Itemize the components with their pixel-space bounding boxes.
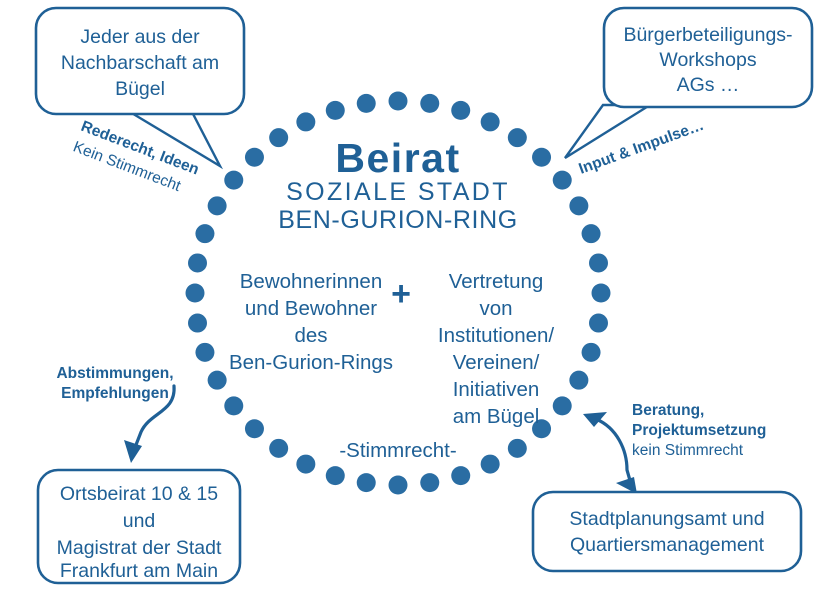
center-right-column: Vertretung von Institutionen/ Vereinen/ … — [438, 270, 555, 428]
callout-top-left-line-1: Jeder aus der — [80, 26, 200, 48]
callout-top-right-line-2: Workshops — [659, 49, 756, 71]
center-footer: -Stimmrecht- — [339, 439, 456, 462]
box-bottom-left[interactable]: Ortsbeirat 10 & 15 und Magistrat der Sta… — [38, 470, 240, 583]
plus-icon: + — [391, 275, 411, 313]
ring-dot — [569, 371, 588, 390]
ring-dot — [269, 128, 288, 147]
ring-dot — [357, 473, 376, 492]
ring-dot — [208, 371, 227, 390]
ring-dot — [326, 101, 345, 120]
ring-dot — [508, 439, 527, 458]
callout-top-right-line-3: AGs … — [677, 74, 740, 96]
right-column-line-5: Initiativen — [453, 378, 540, 401]
annotation-beratung-line2: Projektumsetzung — [632, 422, 766, 439]
ring-dot — [589, 253, 608, 272]
ring-dot — [188, 314, 207, 333]
center-subtitle-line2: BEN-GURION-RING — [278, 206, 518, 234]
ring-dot — [224, 396, 243, 415]
ring-dot — [326, 466, 345, 485]
ring-dot — [224, 171, 243, 190]
center-left-column: Bewohnerinnen und Bewohner des Ben-Gurio… — [229, 270, 393, 374]
ring-dot — [420, 473, 439, 492]
arrow-abstimmungen-head — [124, 440, 142, 463]
box-bottom-left-line-3: Magistrat der Stadt — [57, 537, 222, 559]
right-column-line-1: Vertretung — [449, 270, 544, 293]
annotation-beratung-line3: kein Stimmrecht — [632, 442, 744, 459]
ring-dot — [195, 224, 214, 243]
left-column-line-1: Bewohnerinnen — [240, 270, 382, 293]
ring-dot — [451, 101, 470, 120]
arrow-beratung — [583, 412, 637, 494]
ring-dot — [582, 224, 601, 243]
callout-top-left-line-3: Bügel — [115, 78, 165, 100]
annotation-abstimmungen-line2: Empfehlungen — [61, 385, 169, 402]
ring-dot — [532, 148, 551, 167]
right-column-line-4: Vereinen/ — [453, 351, 540, 374]
box-bottom-left-line-2: und — [123, 510, 156, 532]
ring-dot — [245, 419, 264, 438]
box-bottom-right-rect — [533, 492, 801, 571]
ring-dot — [508, 128, 527, 147]
annotation-abstimmungen: Abstimmungen, Empfehlungen — [56, 365, 173, 402]
center-title-group: Beirat SOZIALE STADT BEN-GURION-RING — [278, 135, 518, 234]
ring-dot — [245, 148, 264, 167]
callout-top-left-line-2: Nachbarschaft am — [61, 52, 219, 74]
annotation-abstimmungen-line1: Abstimmungen, — [56, 365, 173, 382]
left-column-line-3: des — [294, 324, 327, 347]
ring-dot — [296, 112, 315, 131]
ring-dot — [188, 253, 207, 272]
box-bottom-right-line-1: Stadtplanungsamt und — [569, 508, 764, 530]
ring-dot — [208, 196, 227, 215]
ring-dot — [553, 171, 572, 190]
callout-top-right-line-1: Bürgerbeteiligungs- — [623, 24, 792, 46]
annotation-beratung-line1: Beratung, — [632, 402, 704, 419]
ring-dot — [389, 92, 408, 111]
ring-dot — [195, 343, 214, 362]
left-column-line-4: Ben-Gurion-Rings — [229, 351, 393, 374]
ring-dot — [186, 284, 205, 303]
ring-dot — [589, 314, 608, 333]
ring-dot — [420, 94, 439, 113]
diagram-canvas: Beirat SOZIALE STADT BEN-GURION-RING Bew… — [0, 0, 820, 600]
ring-dot — [357, 94, 376, 113]
ring-dot — [481, 455, 500, 474]
organigramm-svg: Beirat SOZIALE STADT BEN-GURION-RING Bew… — [0, 0, 820, 600]
right-column-line-2: von — [479, 297, 512, 320]
right-column-line-3: Institutionen/ — [438, 324, 555, 347]
annotation-beratung: Beratung, Projektumsetzung kein Stimmrec… — [632, 402, 766, 459]
ring-dot — [553, 396, 572, 415]
ring-dot — [389, 476, 408, 495]
box-bottom-left-line-1: Ortsbeirat 10 & 15 — [60, 483, 218, 505]
ring-dot — [569, 196, 588, 215]
left-column-line-2: und Bewohner — [245, 297, 377, 320]
ring-dot — [592, 284, 611, 303]
box-bottom-left-line-4: Frankfurt am Main — [60, 560, 218, 582]
ring-dot — [582, 343, 601, 362]
ring-dot — [269, 439, 288, 458]
center-title: Beirat — [335, 135, 460, 181]
center-subtitle-line1: SOZIALE STADT — [286, 178, 510, 206]
box-bottom-right-line-2: Quartiersmanagement — [570, 534, 765, 556]
ring-dot — [481, 112, 500, 131]
right-column-line-6: am Bügel — [453, 405, 540, 428]
ring-dot — [296, 455, 315, 474]
box-bottom-right[interactable]: Stadtplanungsamt und Quartiersmanagement — [533, 492, 801, 571]
ring-dot — [451, 466, 470, 485]
arrow-beratung-path — [596, 419, 631, 484]
